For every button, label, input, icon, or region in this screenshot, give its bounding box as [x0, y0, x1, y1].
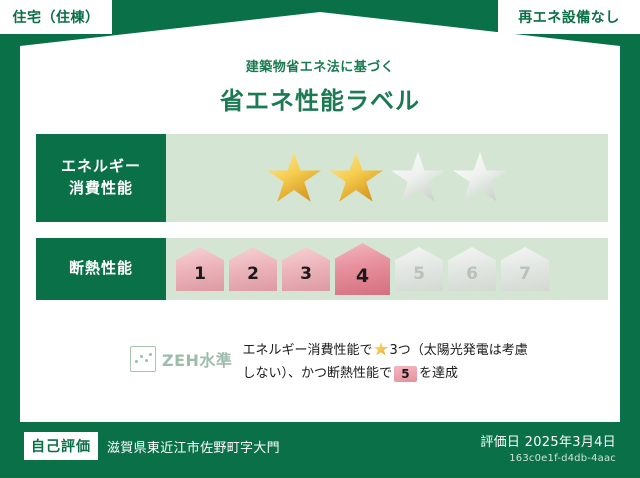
zeh-desc-level-badge: 5 — [394, 366, 417, 382]
energy-star-rating — [166, 134, 608, 222]
insulation-level-badge-2: 2 — [229, 247, 277, 291]
zeh-mark-label: ZEH水準 — [162, 347, 232, 371]
energy-consumption-label: エネルギー 消費性能 — [36, 134, 166, 222]
insulation-level-badge-3: 3 — [282, 247, 330, 291]
insulation-level-scale: 1 2 3 4 5 6 7 — [166, 238, 608, 300]
insulation-level-number-7: 7 — [519, 264, 531, 284]
evaluation-date: 評価日 2025年3月4日 — [480, 431, 616, 450]
insulation-level-badge-7: 7 — [501, 247, 549, 291]
insulation-level-badge-5: 5 — [395, 247, 443, 291]
insulation-level-number-6: 6 — [466, 264, 478, 284]
tab-building-type-label: 住宅（住棟） — [13, 7, 100, 27]
energy-label-line1: エネルギー — [61, 156, 141, 178]
star-icon-2 — [329, 152, 383, 204]
insulation-level-number-1: 1 — [194, 264, 206, 284]
star-icon-1 — [267, 152, 321, 204]
insulation-level-badge-6: 6 — [448, 247, 496, 291]
zeh-mark: ZEH水準 — [130, 336, 232, 372]
insulation-level-number-4: 4 — [356, 265, 369, 287]
self-evaluation-badge: 自己評価 — [24, 432, 98, 460]
footer-right: 評価日 2025年3月4日 163c0e1f-d4db-4aac — [480, 431, 616, 464]
tab-building-type: 住宅（住棟） — [0, 0, 112, 34]
title-subtitle: 建築物省エネ法に基づく — [0, 56, 640, 75]
insulation-level-number-2: 2 — [247, 264, 259, 284]
insulation-label-text: 断熱性能 — [69, 258, 133, 280]
label-title-block: 建築物省エネ法に基づく 省エネ性能ラベル — [0, 56, 640, 116]
tab-renewable-energy: 再エネ設備なし — [498, 0, 640, 34]
zeh-desc-part2: 3つ（太陽光発電 — [389, 343, 488, 358]
tab-renewable-energy-label: 再エネ設備なし — [518, 7, 620, 27]
star-icon-3 — [391, 152, 445, 204]
insulation-level-badge-4: 4 — [335, 243, 390, 295]
insulation-level-number-5: 5 — [413, 264, 425, 284]
insulation-performance-row: 断熱性能 1 2 3 4 5 6 7 — [36, 238, 608, 300]
energy-consumption-row: エネルギー 消費性能 — [36, 134, 608, 222]
zeh-desc-part1: エネルギー消費性能で — [242, 343, 372, 358]
zeh-desc-part4: を達成 — [419, 366, 458, 381]
star-icon-4 — [453, 152, 507, 204]
star-icon-inline — [373, 342, 388, 356]
zeh-standard-section: ZEH水準 エネルギー消費性能で3つ（太陽光発電は考慮しない）、かつ断熱性能で5… — [130, 336, 534, 386]
title-main: 省エネ性能ラベル — [0, 81, 640, 116]
energy-performance-label: 住宅（住棟） 再エネ設備なし 建築物省エネ法に基づく 省エネ性能ラベル エネルギ… — [0, 0, 640, 478]
zeh-dots-icon — [130, 346, 156, 372]
property-address: 滋賀県東近江市佐野町字大門 — [107, 437, 280, 456]
energy-label-line2: 消費性能 — [69, 178, 133, 200]
insulation-level-badge-1: 1 — [176, 247, 224, 291]
insulation-performance-label: 断熱性能 — [36, 238, 166, 300]
insulation-level-number-3: 3 — [300, 264, 312, 284]
footer-left: 自己評価 滋賀県東近江市佐野町字大門 — [24, 432, 280, 460]
evaluation-id: 163c0e1f-d4db-4aac — [480, 453, 616, 464]
zeh-description: エネルギー消費性能で3つ（太陽光発電は考慮しない）、かつ断熱性能で5を達成 — [242, 336, 534, 386]
